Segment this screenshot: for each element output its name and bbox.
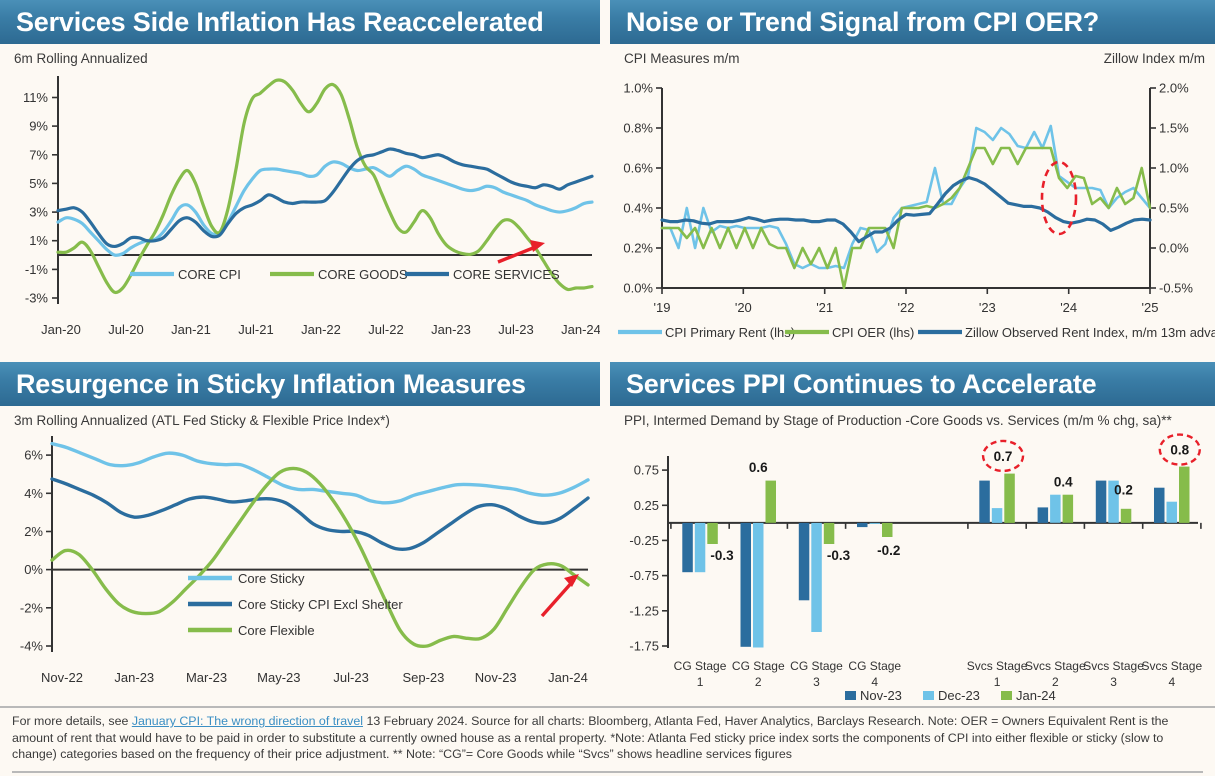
y-tick-label-right: 1.5% — [1159, 121, 1189, 136]
trend-arrow-head-icon — [564, 574, 579, 587]
y-tick-label: 0.25 — [634, 498, 659, 513]
y-tick-label-right: 0.0% — [1159, 241, 1189, 256]
data-label-5: 0.4 — [1054, 474, 1073, 489]
bar-0-5 — [1038, 507, 1049, 523]
x-category-label2-5: 2 — [1052, 675, 1059, 689]
footnote-prefix: For more details, see — [12, 714, 132, 728]
legend-label-2: Zillow Observed Rent Index, m/m 13m adva… — [965, 325, 1215, 340]
y-tick-label-right: 0.5% — [1159, 201, 1189, 216]
panel-header: Services Side Inflation Has Reaccelerate… — [0, 0, 600, 44]
page-title: Services Side Inflation Has Reaccelerate… — [16, 7, 544, 38]
panel-subtitle: PPI, Intermed Demand by Stage of Product… — [610, 406, 1215, 428]
bar-0-4 — [979, 481, 990, 523]
x-tick-label: Jul-22 — [368, 322, 403, 337]
x-tick-label: Jul-21 — [238, 322, 273, 337]
x-category-label2-7: 4 — [1168, 675, 1175, 689]
bar-2-0 — [707, 523, 718, 544]
series-line-0 — [58, 162, 592, 255]
data-label-4: 0.7 — [994, 449, 1013, 464]
y-tick-label: 9% — [29, 119, 48, 134]
legend-label-1: Dec-23 — [938, 688, 980, 700]
bar-0-6 — [1096, 481, 1107, 523]
y-tick-label: 3% — [29, 205, 48, 220]
x-tick-label: Jan-24 — [548, 670, 588, 685]
data-label-1: 0.6 — [749, 460, 768, 475]
x-category-label-1: CG Stage — [732, 659, 785, 673]
data-label-7: 0.8 — [1170, 443, 1189, 458]
bar-2-1 — [766, 481, 777, 523]
x-tick-label: Jan-22 — [301, 322, 341, 337]
y-tick-label: -0.75 — [629, 568, 659, 583]
x-tick-label: Sep-23 — [402, 670, 444, 685]
y-tick-label: 1% — [29, 233, 48, 248]
legend-label-2: Core Flexible — [238, 623, 315, 638]
bar-1-5 — [1050, 495, 1061, 523]
footnote-divider — [12, 771, 1203, 773]
x-tick-label: Mar-23 — [186, 670, 227, 685]
series-line-2 — [58, 149, 592, 246]
y-tick-label: -1% — [25, 262, 49, 277]
bar-2-4 — [1004, 474, 1015, 523]
line-chart-svg: 6%4%2%0%-2%-4%Nov-22Jan-23Mar-23May-23Ju… — [0, 428, 600, 700]
dashboard: Services Side Inflation Has Reaccelerate… — [0, 0, 1215, 776]
bar-1-1 — [753, 523, 764, 648]
y-tick-label-left: 0.8% — [623, 121, 653, 136]
x-tick-label: Jan-23 — [431, 322, 471, 337]
panel-subtitle-row: CPI Measures m/m Zillow Index m/m — [610, 44, 1215, 66]
y-tick-label: -0.25 — [629, 533, 659, 548]
bar-1-7 — [1167, 502, 1178, 523]
chart-sticky-inflation: 6%4%2%0%-2%-4%Nov-22Jan-23Mar-23May-23Ju… — [0, 428, 600, 700]
y-tick-label-left: 0.4% — [623, 201, 653, 216]
x-tick-label: Nov-23 — [475, 670, 517, 685]
bar-0-2 — [799, 523, 810, 600]
y-tick-label: 5% — [29, 176, 48, 191]
series-line-1 — [662, 148, 1150, 288]
x-category-label-6: Svcs Stage — [1083, 659, 1144, 673]
legend-label-0: CPI Primary Rent (lhs) — [665, 325, 795, 340]
x-tick-label: '25 — [1142, 300, 1159, 315]
legend-label-1: CPI OER (lhs) — [832, 325, 914, 340]
page-title: Noise or Trend Signal from CPI OER? — [626, 7, 1099, 38]
x-tick-label: Jan-24 — [561, 322, 600, 337]
page-title: Resurgence in Sticky Inflation Measures — [16, 369, 526, 400]
x-category-label2-0: 1 — [697, 675, 704, 689]
line-chart-svg: 0.0%0.2%0.4%0.6%0.8%1.0%-0.5%0.0%0.5%1.0… — [610, 66, 1215, 354]
x-tick-label: Nov-22 — [41, 670, 83, 685]
data-label-3: -0.2 — [877, 543, 900, 558]
y-tick-label: -2% — [20, 600, 44, 615]
y-tick-label-left: 0.2% — [623, 241, 653, 256]
y-tick-label-right: 1.0% — [1159, 161, 1189, 176]
y-tick-label: -3% — [25, 291, 49, 306]
y-tick-label-right: -0.5% — [1159, 281, 1193, 296]
x-category-label2-3: 4 — [871, 675, 878, 689]
y-tick-label-left: 0.6% — [623, 161, 653, 176]
panel-subtitle: 3m Rolling Annualized (ATL Fed Sticky & … — [0, 406, 600, 428]
bar-1-2 — [811, 523, 822, 632]
x-tick-label: Jan-20 — [41, 322, 81, 337]
panel-header: Services PPI Continues to Accelerate — [610, 362, 1215, 406]
panel-sticky-inflation: Resurgence in Sticky Inflation Measures … — [0, 362, 600, 705]
trend-arrow-icon — [542, 580, 574, 616]
y-tick-label: 7% — [29, 147, 48, 162]
footnote-link[interactable]: January CPI: The wrong direction of trav… — [132, 714, 363, 728]
x-category-label2-4: 1 — [994, 675, 1001, 689]
x-tick-label: Jul-20 — [108, 322, 143, 337]
bar-0-0 — [682, 523, 693, 572]
x-tick-label: '23 — [979, 300, 996, 315]
bar-0-3 — [857, 523, 868, 527]
bar-2-7 — [1179, 467, 1190, 523]
y-tick-label: 4% — [24, 486, 43, 501]
legend-label-0: Nov-23 — [860, 688, 902, 700]
y-tick-label-left: 1.0% — [623, 81, 653, 96]
line-chart-svg: 11%9%7%5%3%1%-1%-3%Jan-20Jul-20Jan-21Jul… — [0, 66, 600, 356]
x-tick-label: Jan-23 — [114, 670, 154, 685]
x-category-label-2: CG Stage — [790, 659, 843, 673]
bar-1-4 — [992, 508, 1003, 523]
bar-2-2 — [824, 523, 835, 544]
chart-services-side-inflation: 11%9%7%5%3%1%-1%-3%Jan-20Jul-20Jan-21Jul… — [0, 66, 600, 356]
x-category-label-5: Svcs Stage — [1025, 659, 1086, 673]
x-category-label2-2: 3 — [813, 675, 820, 689]
legend-label-1: CORE GOODS — [318, 267, 408, 282]
chart-services-ppi: 0.750.25-0.25-0.75-1.25-1.75-0.30.6-0.3-… — [610, 428, 1215, 700]
bar-chart-svg: 0.750.25-0.25-0.75-1.25-1.75-0.30.6-0.3-… — [610, 428, 1215, 700]
panel-cpi-oer: Noise or Trend Signal from CPI OER? CPI … — [610, 0, 1215, 358]
series-line-1 — [58, 80, 592, 293]
chart-cpi-oer: 0.0%0.2%0.4%0.6%0.8%1.0%-0.5%0.0%0.5%1.0… — [610, 66, 1215, 354]
legend-label-2: Jan-24 — [1016, 688, 1056, 700]
page-title: Services PPI Continues to Accelerate — [626, 369, 1097, 400]
bar-1-3 — [870, 523, 881, 524]
data-label-6: 0.2 — [1114, 483, 1133, 498]
panel-subtitle: 6m Rolling Annualized — [0, 44, 600, 66]
bar-0-7 — [1154, 488, 1165, 523]
y-tick-label: 2% — [24, 524, 43, 539]
x-tick-label: '20 — [735, 300, 752, 315]
x-tick-label: May-23 — [257, 670, 300, 685]
x-category-label-4: Svcs Stage — [967, 659, 1028, 673]
bar-2-6 — [1121, 509, 1132, 523]
series-line-0 — [52, 444, 588, 503]
x-tick-label: '22 — [898, 300, 915, 315]
x-category-label-0: CG Stage — [674, 659, 727, 673]
subtitle-right: Zillow Index m/m — [1104, 51, 1205, 66]
y-tick-label: 11% — [23, 90, 48, 105]
data-label-0: -0.3 — [710, 548, 734, 563]
legend-label-2: CORE SERVICES — [453, 267, 560, 282]
series-line-2 — [52, 468, 588, 646]
panel-header: Noise or Trend Signal from CPI OER? — [610, 0, 1215, 44]
y-tick-label-right: 2.0% — [1159, 81, 1189, 96]
panel-services-ppi: Services PPI Continues to Accelerate PPI… — [610, 362, 1215, 705]
x-tick-label: Jan-21 — [171, 322, 211, 337]
y-tick-label: 6% — [24, 448, 43, 463]
bar-2-3 — [882, 523, 893, 537]
x-tick-label: Jul-23 — [333, 670, 368, 685]
legend-swatch-2 — [1001, 691, 1012, 700]
x-category-label2-1: 2 — [755, 675, 762, 689]
x-tick-label: Jul-23 — [498, 322, 533, 337]
y-tick-label: -1.25 — [629, 603, 659, 618]
data-label-2: -0.3 — [827, 548, 851, 563]
x-tick-label: '24 — [1060, 300, 1077, 315]
y-tick-label: -4% — [20, 639, 44, 654]
x-category-label2-6: 3 — [1110, 675, 1117, 689]
y-tick-label: 0% — [24, 562, 43, 577]
bar-2-5 — [1063, 495, 1074, 523]
legend-label-0: Core Sticky — [238, 571, 305, 586]
legend-label-1: Core Sticky CPI Excl Shelter — [238, 597, 403, 612]
y-tick-label-left: 0.0% — [623, 281, 653, 296]
legend-swatch-1 — [923, 691, 934, 700]
legend-label-0: CORE CPI — [178, 267, 241, 282]
panel-header: Resurgence in Sticky Inflation Measures — [0, 362, 600, 406]
subtitle-left: CPI Measures m/m — [624, 51, 740, 66]
panel-services-side-inflation: Services Side Inflation Has Reaccelerate… — [0, 0, 600, 358]
footnote: For more details, see January CPI: The w… — [0, 706, 1215, 776]
x-category-label-3: CG Stage — [848, 659, 901, 673]
bar-0-1 — [741, 523, 752, 647]
x-tick-label: '21 — [816, 300, 833, 315]
x-category-label-7: Svcs Stage — [1141, 659, 1202, 673]
x-tick-label: '19 — [654, 300, 671, 315]
legend-swatch-0 — [845, 691, 856, 700]
y-tick-label: -1.75 — [629, 639, 659, 654]
y-tick-label: 0.75 — [634, 463, 659, 478]
bar-1-0 — [695, 523, 706, 572]
